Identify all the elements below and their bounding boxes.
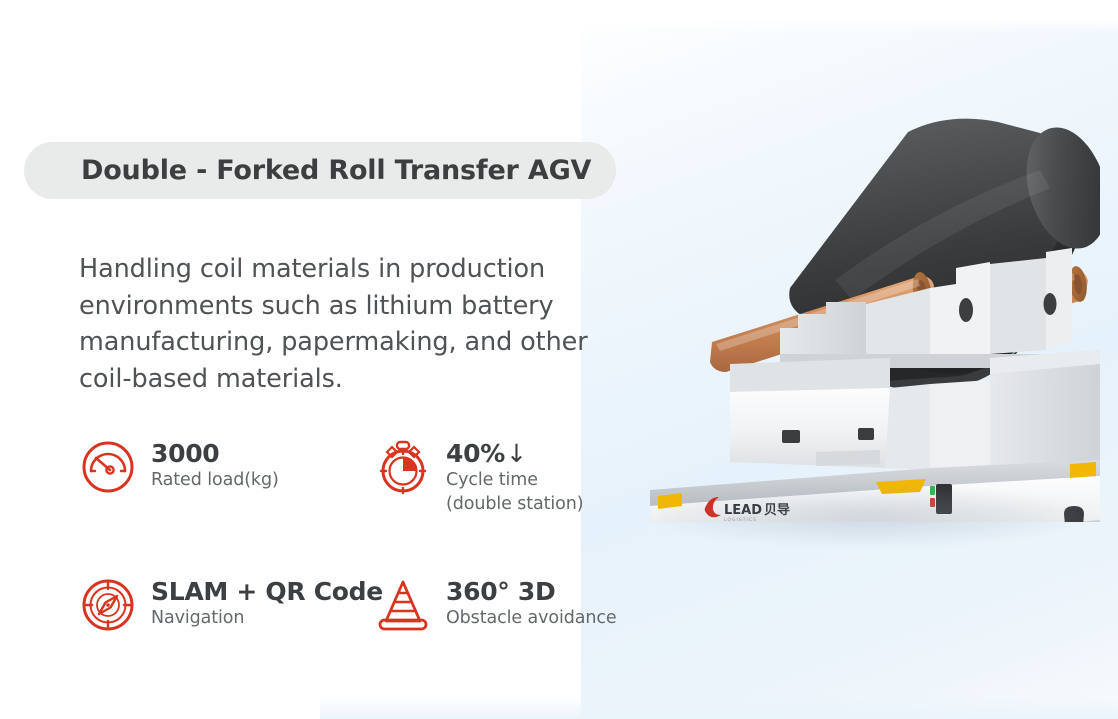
page-title: Double - Forked Roll Transfer AGV [81, 155, 591, 186]
spec-text-obstacle-avoidance: 360° 3D Obstacle avoidance [446, 576, 617, 630]
spec-value-number: 3000 [151, 439, 219, 468]
carriage-port-left [782, 430, 800, 443]
spec-value-navigation: SLAM + QR Code [151, 577, 384, 606]
spec-label-rated-load: Rated load(kg) [151, 468, 279, 492]
compass-icon [79, 576, 137, 634]
gauge-icon [79, 438, 137, 496]
agv-product-image: LEAD 贝导 LOGISTICS [630, 92, 1100, 522]
page-title-pill: Double - Forked Roll Transfer AGV [24, 142, 616, 199]
lift-pin-right [1044, 293, 1057, 315]
traffic-cone-icon [374, 576, 432, 634]
spec-value-rated-load: 3000 [151, 439, 279, 468]
spec-row-1: 3000 Rated load(kg) [79, 438, 679, 516]
carriage-port-right [858, 428, 874, 440]
spec-value-number: 360° 3D [446, 577, 555, 606]
background-top-white-band [559, 0, 1118, 34]
spec-value-arrow: ↓ [506, 439, 527, 468]
carriage-front-mid [885, 384, 930, 470]
spec-value-number: SLAM + QR Code [151, 577, 383, 606]
spec-item-navigation: SLAM + QR Code Navigation [79, 576, 374, 634]
spec-label-cycle-time-line1: Cycle time [446, 468, 584, 492]
stopwatch-icon [374, 438, 432, 496]
carriage-front-right [930, 380, 990, 470]
carriage-lower-rail [816, 450, 880, 466]
agv-ground-shadow [660, 486, 1080, 546]
product-description: Handling coil materials in production en… [79, 251, 644, 397]
spec-row-spacer [79, 516, 679, 576]
spec-value-cycle-time: 40% ↓ [446, 439, 584, 468]
spec-label-obstacle-avoidance: Obstacle avoidance [446, 606, 617, 630]
carriage-top-left [730, 358, 890, 392]
spec-label-cycle-time-line2: (double station) [446, 492, 584, 516]
lift-bracket-mid-right [990, 258, 1046, 354]
spec-row-2: SLAM + QR Code Navigation 360° [79, 576, 679, 634]
spec-label-navigation: Navigation [151, 606, 384, 630]
lift-pin-left [959, 298, 973, 322]
spec-value-number: 40% [446, 439, 505, 468]
spec-item-obstacle-avoidance: 360° 3D Obstacle avoidance [374, 576, 669, 634]
spec-text-navigation: SLAM + QR Code Navigation [151, 576, 384, 630]
spec-item-rated-load: 3000 Rated load(kg) [79, 438, 374, 516]
spec-text-rated-load: 3000 Rated load(kg) [151, 438, 279, 492]
marker-front-right [1070, 462, 1096, 478]
spec-item-cycle-time: 40% ↓ Cycle time (double station) [374, 438, 669, 516]
spec-value-obstacle-avoidance: 360° 3D [446, 577, 617, 606]
spec-text-cycle-time: 40% ↓ Cycle time (double station) [446, 438, 584, 516]
spec-grid: 3000 Rated load(kg) [79, 438, 679, 634]
product-feature-banner: LEAD 贝导 LOGISTICS Dou [0, 0, 1118, 719]
